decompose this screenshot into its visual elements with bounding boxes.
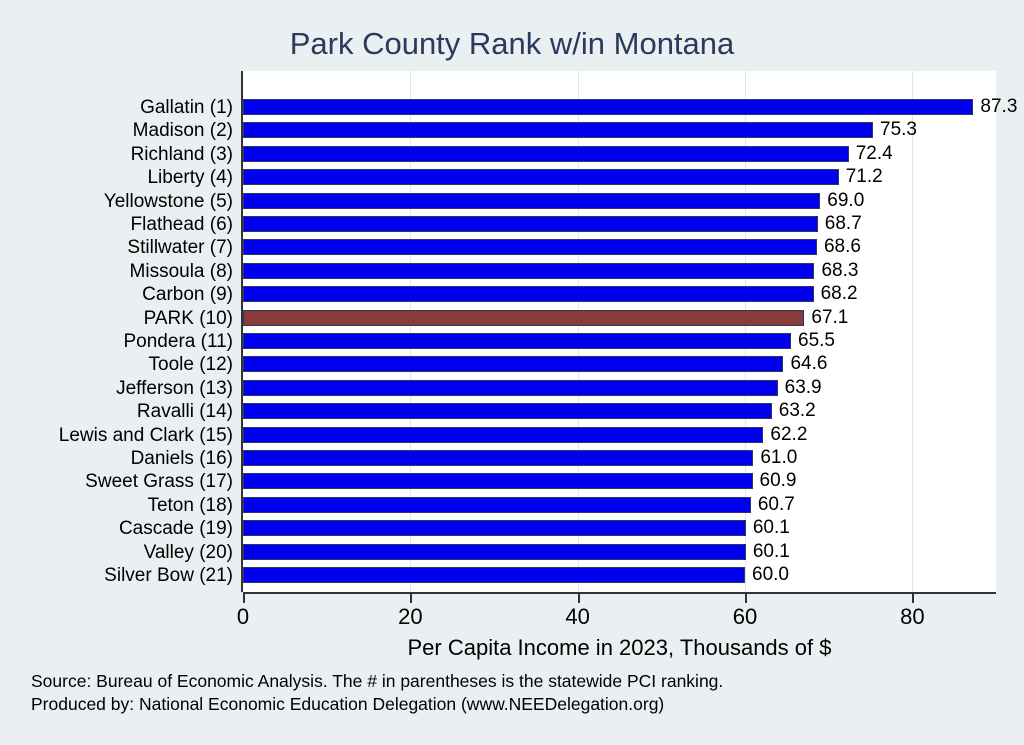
bar-value-label: 75.3 [880, 119, 917, 141]
bar-row: 69.0 [243, 190, 996, 214]
bar-row: 87.3 [243, 96, 996, 120]
bar[interactable] [243, 333, 791, 349]
y-axis-label: Valley (20) [13, 542, 233, 564]
y-axis-label: Ravalli (14) [13, 401, 233, 423]
bar-value-label: 64.6 [790, 353, 827, 375]
bar-row: 71.2 [243, 166, 996, 190]
bar-row: 75.3 [243, 119, 996, 143]
y-axis-label: Jefferson (13) [13, 378, 233, 400]
bar[interactable] [243, 497, 751, 513]
bar-row: 60.1 [243, 541, 996, 565]
bar[interactable] [243, 380, 778, 396]
bar-value-label: 63.9 [785, 377, 822, 399]
bar-row: 67.1 [243, 307, 996, 331]
y-axis-label: Toole (12) [13, 354, 233, 376]
x-tick-label-40: 40 [543, 604, 613, 630]
bar[interactable] [243, 263, 814, 279]
bar-value-label: 68.6 [824, 236, 861, 258]
bar-value-label: 60.9 [760, 470, 797, 492]
y-axis-label: Missoula (8) [13, 261, 233, 283]
x-axis-line [243, 592, 996, 594]
bar-value-label: 61.0 [760, 447, 797, 469]
y-axis-label: Silver Bow (21) [13, 565, 233, 587]
x-tick-mark-40 [578, 594, 580, 603]
footer-line-producer: Produced by: National Economic Education… [31, 693, 723, 716]
bar-value-label: 69.0 [827, 190, 864, 212]
bar-row: 68.3 [243, 260, 996, 284]
y-axis-label: Richland (3) [13, 144, 233, 166]
bar[interactable] [243, 450, 753, 466]
bar-value-label: 65.5 [798, 330, 835, 352]
bar-value-label: 71.2 [846, 166, 883, 188]
x-tick-mark-60 [745, 594, 747, 603]
bar[interactable] [243, 356, 783, 372]
bar[interactable] [243, 239, 817, 255]
bar-row: 60.9 [243, 470, 996, 494]
bar-row: 62.2 [243, 424, 996, 448]
y-axis-line [241, 71, 243, 592]
bar-value-label: 67.1 [811, 307, 848, 329]
y-axis-label: PARK (10) [13, 308, 233, 330]
bar-value-label: 60.1 [753, 541, 790, 563]
y-axis-label: Teton (18) [13, 495, 233, 517]
bar[interactable] [243, 567, 745, 583]
bar-value-label: 62.2 [770, 424, 807, 446]
y-axis-label: Daniels (16) [13, 448, 233, 470]
x-axis-title: Per Capita Income in 2023, Thousands of … [243, 635, 996, 661]
bar-row: 64.6 [243, 353, 996, 377]
bar-value-label: 60.7 [758, 494, 795, 516]
chart-figure: Park County Rank w/in Montana 87.375.372… [0, 0, 1024, 745]
bar[interactable] [243, 146, 849, 162]
y-axis-label: Pondera (11) [13, 331, 233, 353]
bar-value-label: 72.4 [856, 143, 893, 165]
bar-row: 61.0 [243, 447, 996, 471]
y-axis-category-labels: Gallatin (1)Madison (2)Richland (3)Liber… [13, 71, 235, 592]
y-axis-label: Flathead (6) [13, 214, 233, 236]
bar[interactable] [243, 544, 746, 560]
x-tick-mark-80 [912, 594, 914, 603]
bar-value-label: 63.2 [779, 400, 816, 422]
bar-value-label: 87.3 [980, 96, 1017, 118]
bar[interactable] [243, 403, 772, 419]
x-tick-label-0: 0 [208, 604, 278, 630]
bar-row: 60.7 [243, 494, 996, 518]
y-axis-label: Sweet Grass (17) [13, 471, 233, 493]
y-axis-label: Gallatin (1) [13, 97, 233, 119]
bar[interactable] [243, 310, 804, 326]
bar-value-label: 68.7 [825, 213, 862, 235]
footer-note: Source: Bureau of Economic Analysis. The… [31, 670, 723, 716]
bar[interactable] [243, 193, 820, 209]
bar-value-label: 60.1 [753, 517, 790, 539]
x-tick-label-20: 20 [375, 604, 445, 630]
bar[interactable] [243, 427, 763, 443]
bar-value-label: 68.2 [821, 283, 858, 305]
bar[interactable] [243, 520, 746, 536]
y-axis-label: Cascade (19) [13, 518, 233, 540]
bar[interactable] [243, 122, 873, 138]
bar-row: 68.7 [243, 213, 996, 237]
bar-row: 63.2 [243, 400, 996, 424]
bar-row: 68.2 [243, 283, 996, 307]
y-axis-label: Madison (2) [13, 120, 233, 142]
y-axis-label: Lewis and Clark (15) [13, 425, 233, 447]
chart-title: Park County Rank w/in Montana [0, 26, 1024, 62]
bar[interactable] [243, 473, 753, 489]
bar-value-label: 68.3 [821, 260, 858, 282]
bar[interactable] [243, 286, 814, 302]
x-tick-mark-20 [410, 594, 412, 603]
bar[interactable] [243, 216, 818, 232]
bar[interactable] [243, 169, 839, 185]
y-axis-label: Carbon (9) [13, 284, 233, 306]
bar-value-label: 60.0 [752, 564, 789, 586]
y-axis-label: Yellowstone (5) [13, 191, 233, 213]
bar[interactable] [243, 99, 973, 115]
footer-line-source: Source: Bureau of Economic Analysis. The… [31, 670, 723, 693]
bar-row: 60.1 [243, 517, 996, 541]
bar-row: 60.0 [243, 564, 996, 588]
bar-row: 68.6 [243, 236, 996, 260]
y-axis-label: Stillwater (7) [13, 237, 233, 259]
bar-row: 65.5 [243, 330, 996, 354]
x-tick-label-60: 60 [710, 604, 780, 630]
bar-row: 72.4 [243, 143, 996, 167]
x-tick-label-80: 80 [877, 604, 947, 630]
plot-area: 87.375.372.471.269.068.768.668.368.267.1… [243, 71, 996, 592]
y-axis-label: Liberty (4) [13, 167, 233, 189]
x-tick-mark-0 [243, 594, 245, 603]
bar-row: 63.9 [243, 377, 996, 401]
